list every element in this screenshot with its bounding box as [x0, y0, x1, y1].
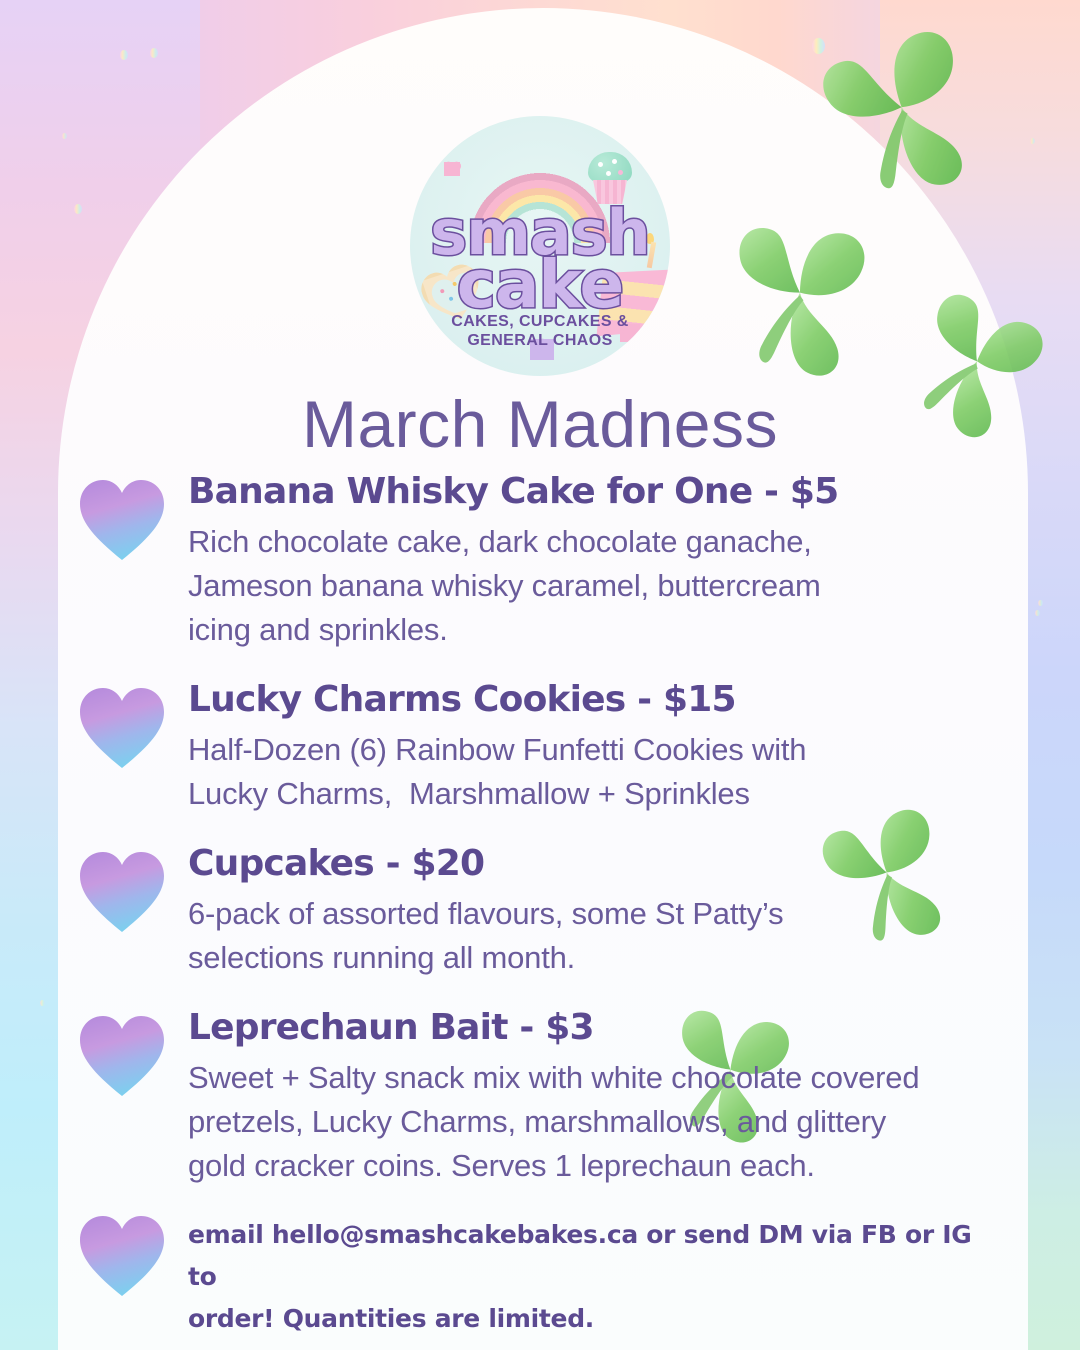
desc-line: Sweet + Salty snack mix with white choco… [188, 1056, 1008, 1100]
item-description: Half-Dozen (6) Rainbow Funfetti Cookies … [188, 728, 1008, 816]
footer-line: order! Quantities are limited. [188, 1298, 1008, 1340]
page-title: March Madness [0, 388, 1080, 460]
sparkle-icon [120, 50, 128, 60]
sparkle-icon [1030, 138, 1035, 144]
sparkle-icon [1038, 600, 1043, 606]
heart-bullet-icon [78, 686, 166, 770]
item-title: Banana Whisky Cake for One - $5 [188, 470, 1008, 514]
logo-tagline-line2: GENERAL CHAOS [467, 332, 612, 349]
sparkle-icon [40, 1000, 45, 1006]
item-description: 6-pack of assorted flavours, some St Pat… [188, 892, 1008, 980]
desc-line: gold cracker coins. Serves 1 leprechaun … [188, 1144, 1008, 1188]
list-item: Banana Whisky Cake for One - $5 Rich cho… [78, 470, 1008, 652]
list-item: Lucky Charms Cookies - $15 Half-Dozen (6… [78, 678, 1008, 816]
sparkle-icon [1035, 610, 1040, 616]
desc-line: Lucky Charms, Marshmallow + Sprinkles [188, 772, 1008, 816]
order-instructions-text: email hello@smashcakebakes.ca or send DM… [188, 1214, 1008, 1340]
heart-bullet-icon [78, 850, 166, 934]
list-item: Leprechaun Bait - $3 Sweet + Salty snack… [78, 1006, 1008, 1188]
desc-line: Jameson banana whisky caramel, buttercre… [188, 564, 1008, 608]
item-title: Lucky Charms Cookies - $15 [188, 678, 1008, 722]
item-description: Sweet + Salty snack mix with white choco… [188, 1056, 1008, 1188]
desc-line: pretzels, Lucky Charms, marshmallows, an… [188, 1100, 1008, 1144]
logo-tagline: CAKES, CUPCAKES & GENERAL CHAOS [410, 312, 670, 350]
desc-line: Rich chocolate cake, dark chocolate gana… [188, 520, 1008, 564]
brand-logo: smash cake CAKES, CUPCAKES & GENERAL CHA… [410, 116, 670, 376]
desc-line: 6-pack of assorted flavours, some St Pat… [188, 892, 1008, 936]
desc-line: selections running all month. [188, 936, 1008, 980]
item-description: Rich chocolate cake, dark chocolate gana… [188, 520, 1008, 652]
list-item: Cupcakes - $20 6-pack of assorted flavou… [78, 842, 1008, 980]
shamrock-icon [716, 210, 891, 399]
sparkle-icon [150, 48, 158, 58]
desc-line: icing and sprinkles. [188, 608, 1008, 652]
sparkle-icon [62, 133, 67, 139]
item-title: Cupcakes - $20 [188, 842, 1008, 886]
logo-tagline-line1: CAKES, CUPCAKES & [451, 313, 629, 330]
heart-icon [444, 162, 460, 176]
desc-line: Half-Dozen (6) Rainbow Funfetti Cookies … [188, 728, 1008, 772]
sparkle-icon [74, 204, 82, 214]
item-title: Leprechaun Bait - $3 [188, 1006, 1008, 1050]
footer-line: email hello@smashcakebakes.ca or send DM… [188, 1214, 1008, 1298]
heart-bullet-icon [78, 1214, 166, 1298]
heart-bullet-icon [78, 1014, 166, 1098]
poster-canvas: smash cake CAKES, CUPCAKES & GENERAL CHA… [0, 0, 1080, 1350]
order-instructions: email hello@smashcakebakes.ca or send DM… [78, 1214, 1008, 1340]
menu-list: Banana Whisky Cake for One - $5 Rich cho… [78, 470, 1008, 1340]
heart-bullet-icon [78, 478, 166, 562]
